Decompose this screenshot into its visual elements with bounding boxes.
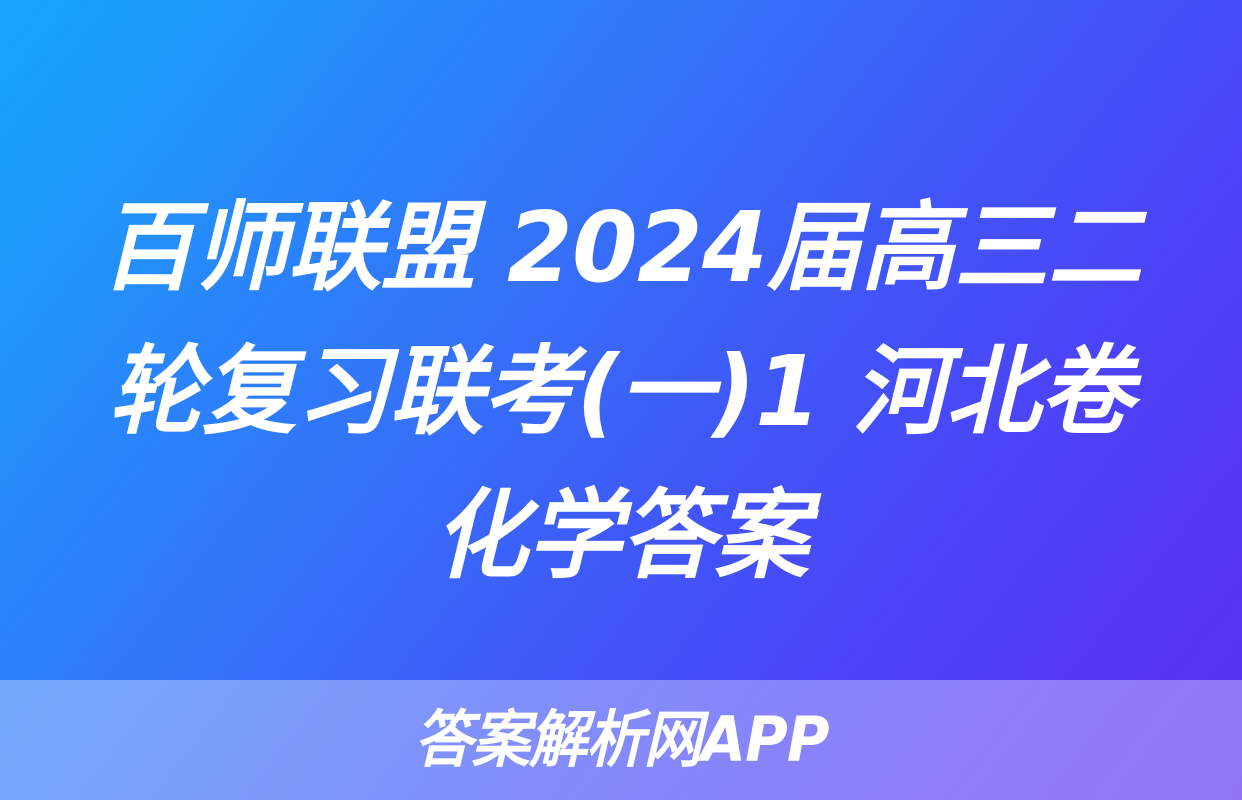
- cover-card: 百师联盟 2024届高三二 轮复习联考(一)1 河北卷 化学答案 答案解析网AP…: [0, 0, 1242, 800]
- app-watermark-label: 答案解析网APP: [414, 709, 828, 771]
- title-line-1: 百师联盟 2024届高三二: [52, 176, 1191, 320]
- page-title: 百师联盟 2024届高三二 轮复习联考(一)1 河北卷 化学答案: [0, 176, 1242, 608]
- title-line-3: 化学答案: [52, 464, 1191, 608]
- title-line-2: 轮复习联考(一)1 河北卷: [52, 320, 1191, 464]
- footer-watermark-band: 答案解析网APP: [0, 680, 1242, 800]
